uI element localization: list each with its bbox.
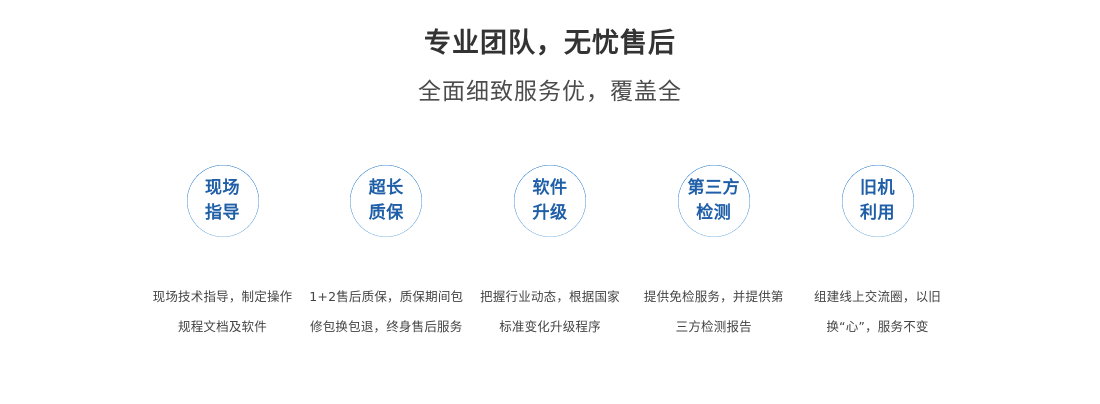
feature-badge-label-line1: 现场 [205,178,240,198]
service-promise-section: 专业团队，无忧售后 全面细致服务优，覆盖全 现场 指导 现场技术指导，制定操作 … [0,0,1100,404]
feature-caption-line1: 组建线上交流圈，以旧 [814,289,941,304]
feature-badge-label: 超长 质保 [369,176,404,226]
feature-badge-circle: 第三方 检测 [663,150,765,252]
feature-badge-circle: 软件 升级 [499,150,601,252]
feature-badge-label-line2: 升级 [533,201,568,226]
feature-badge-circle: 现场 指导 [172,150,274,252]
feature-badge-label-line1: 第三方 [688,178,741,198]
feature-caption: 把握行业动态，根据国家 标准变化升级程序 [480,282,620,342]
feature-caption-line1: 1+2售后质保，质保期间包 [309,289,463,304]
feature-caption: 提供免检服务，并提供第 三方检测报告 [644,282,784,342]
feature-caption-line2: 修包换包退，终身售后服务 [309,312,463,342]
feature-badge-label: 第三方 检测 [688,176,741,226]
feature-caption: 1+2售后质保，质保期间包 修包换包退，终身售后服务 [309,282,463,342]
feature-caption-line2: 标准变化升级程序 [480,312,620,342]
feature-caption-line1: 现场技术指导，制定操作 [153,289,293,304]
section-heading-group: 专业团队，无忧售后 全面细致服务优，覆盖全 [0,0,1100,108]
feature-badge-label-line1: 软件 [533,178,568,198]
feature-badge-label-line2: 利用 [860,201,895,226]
feature-item-software-upgrade[interactable]: 软件 升级 把握行业动态，根据国家 标准变化升级程序 [473,150,628,342]
feature-item-old-machine-reuse[interactable]: 旧机 利用 组建线上交流圈，以旧 换“心”，服务不变 [800,150,955,342]
feature-badge-circle: 超长 质保 [335,150,437,252]
feature-badge-label-line1: 超长 [369,178,404,198]
feature-list: 现场 指导 现场技术指导，制定操作 规程文档及软件 超长 质保 1+2售后质保，… [145,150,955,342]
feature-caption-line2: 换“心”，服务不变 [814,312,941,342]
feature-badge-label-line2: 指导 [205,201,240,226]
feature-badge-label-line2: 质保 [369,201,404,226]
feature-caption: 现场技术指导，制定操作 规程文档及软件 [153,282,293,342]
feature-item-onsite-guidance[interactable]: 现场 指导 现场技术指导，制定操作 规程文档及软件 [145,150,300,342]
feature-caption-line1: 把握行业动态，根据国家 [480,289,620,304]
page-subtitle: 全面细致服务优，覆盖全 [0,61,1100,108]
feature-item-third-party-inspection[interactable]: 第三方 检测 提供免检服务，并提供第 三方检测报告 [636,150,791,342]
feature-caption-line2: 规程文档及软件 [153,312,293,342]
feature-caption: 组建线上交流圈，以旧 换“心”，服务不变 [814,282,941,342]
feature-badge-label-line2: 检测 [688,201,741,226]
feature-badge-label: 软件 升级 [533,176,568,226]
feature-badge-label-line1: 旧机 [860,178,895,198]
feature-caption-line2: 三方检测报告 [644,312,784,342]
feature-item-extended-warranty[interactable]: 超长 质保 1+2售后质保，质保期间包 修包换包退，终身售后服务 [309,150,464,342]
feature-badge-label: 现场 指导 [205,176,240,226]
feature-badge-circle: 旧机 利用 [827,150,929,252]
page-title: 专业团队，无忧售后 [0,0,1100,61]
feature-caption-line1: 提供免检服务，并提供第 [644,289,784,304]
feature-badge-label: 旧机 利用 [860,176,895,226]
